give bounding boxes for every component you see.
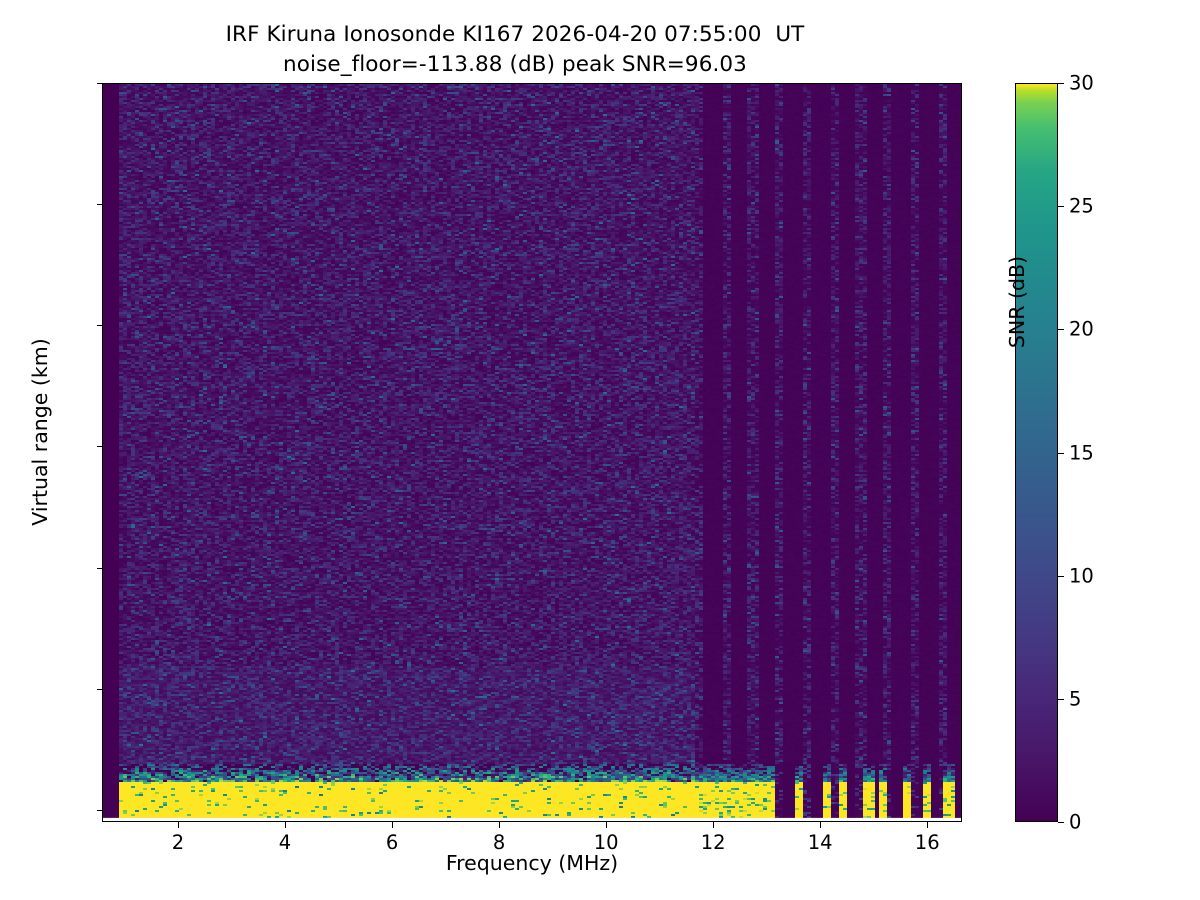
colorbar-tick-label: 0 [1069,811,1081,834]
colorbar-tick-label: 25 [1069,195,1094,218]
ionogram-figure: IRF Kiruna Ionosonde KI167 2026-04-20 07… [0,0,1200,900]
colorbar-tick [1058,453,1064,454]
colorbar-tick [1058,206,1064,207]
figure-title-line1: IRF Kiruna Ionosonde KI167 2026-04-20 07… [0,22,1030,47]
colorbar-tick-label: 5 [1069,687,1081,710]
figure-subtitle-line2: noise_floor=-113.88 (dB) peak SNR=96.03 [0,52,1030,77]
colorbar-tick [1058,822,1064,823]
ionogram-heatmap [103,84,962,822]
colorbar-tick-label: 30 [1069,72,1094,95]
colorbar-ticks: 051015202530 [1015,83,1058,822]
y-tick [97,568,103,569]
y-tick [97,810,103,811]
x-axis-label: Frequency (MHz) [102,851,962,875]
y-tick [97,446,103,447]
ionogram-canvas [103,84,962,822]
ionogram-axes [102,83,962,822]
colorbar-tick-label: 15 [1069,441,1094,464]
y-tick [97,325,103,326]
y-tick [97,83,103,84]
colorbar-tick-label: 10 [1069,564,1094,587]
y-tick [97,204,103,205]
colorbar-tick [1058,329,1064,330]
colorbar-tick [1058,576,1064,577]
colorbar-tick-label: 20 [1069,318,1094,341]
y-tick [97,689,103,690]
colorbar-tick [1058,83,1064,84]
colorbar-tick [1058,699,1064,700]
y-axis-label: Virtual range (km) [28,62,52,802]
